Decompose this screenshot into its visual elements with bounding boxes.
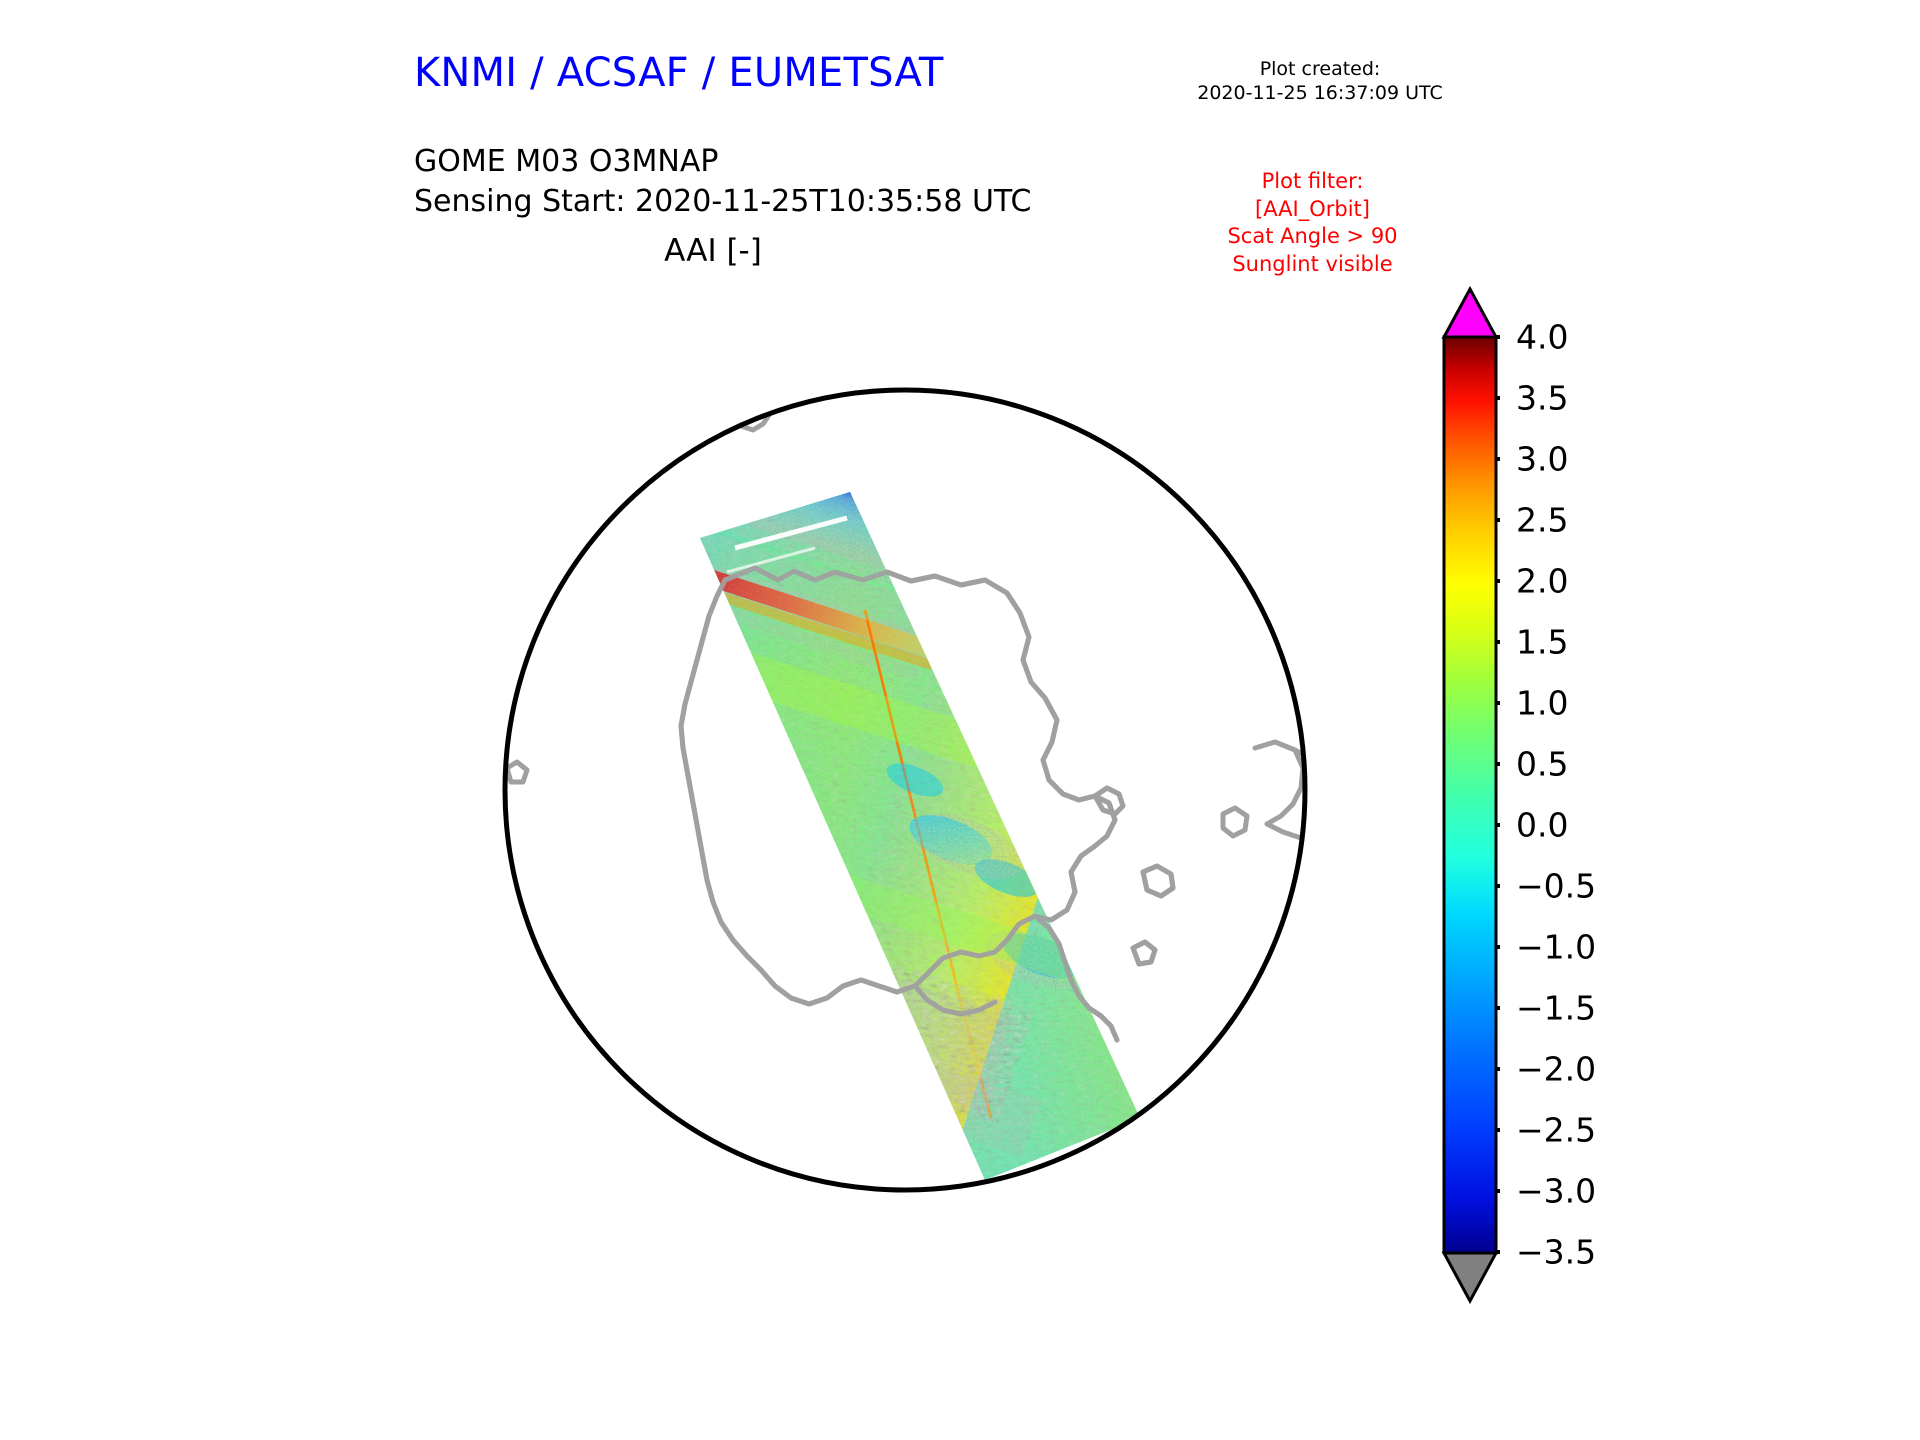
colorbar-label-4: 2.0 xyxy=(1516,562,1568,601)
product-info-block: GOME M03 O3MNAP Sensing Start: 2020-11-2… xyxy=(414,142,1031,222)
colorbar-label-13: −2.5 xyxy=(1516,1111,1596,1150)
colorbar-label-14: −3.0 xyxy=(1516,1172,1596,1211)
map-panel xyxy=(395,280,1415,1300)
instrument-line: GOME M03 O3MNAP xyxy=(414,142,1031,182)
colorbar-over-arrow xyxy=(1444,289,1496,337)
colorbar-under-arrow xyxy=(1444,1253,1496,1301)
colorbar-tick-labels: 4.0 3.5 3.0 2.5 2.0 1.5 1.0 0.5 0.0 −0.5… xyxy=(1516,285,1646,1305)
colorbar-gradient xyxy=(1444,337,1496,1253)
colorbar xyxy=(1440,285,1500,1305)
colorbar-label-6: 1.0 xyxy=(1516,684,1568,723)
colorbar-label-3: 2.5 xyxy=(1516,501,1568,540)
filter-line-0: Plot filter: xyxy=(1180,168,1445,196)
map-svg xyxy=(395,280,1415,1300)
colorbar-label-1: 3.5 xyxy=(1516,379,1568,418)
colorbar-label-11: −1.5 xyxy=(1516,989,1596,1028)
plot-created-label: Plot created: xyxy=(1160,58,1480,82)
colorbar-label-9: −0.5 xyxy=(1516,867,1596,906)
plot-created-block: Plot created: 2020-11-25 16:37:09 UTC xyxy=(1160,58,1480,106)
filter-line-3: Sunglint visible xyxy=(1180,251,1445,279)
colorbar-label-8: 0.0 xyxy=(1516,806,1568,845)
colorbar-label-0: 4.0 xyxy=(1516,318,1568,357)
filter-line-1: [AAI_Orbit] xyxy=(1180,196,1445,224)
colorbar-label-10: −1.0 xyxy=(1516,928,1596,967)
colorbar-label-7: 0.5 xyxy=(1516,745,1568,784)
figure-canvas: KNMI / ACSAF / EUMETSAT Plot created: 20… xyxy=(0,0,1920,1440)
colorbar-label-5: 1.5 xyxy=(1516,623,1568,662)
plot-title: AAI [-] xyxy=(414,233,1012,269)
colorbar-label-2: 3.0 xyxy=(1516,440,1568,479)
brand-title: KNMI / ACSAF / EUMETSAT xyxy=(414,50,944,96)
filter-line-2: Scat Angle > 90 xyxy=(1180,223,1445,251)
colorbar-svg xyxy=(1440,285,1500,1305)
colorbar-label-15: −3.5 xyxy=(1516,1233,1596,1272)
plot-created-value: 2020-11-25 16:37:09 UTC xyxy=(1160,82,1480,106)
sensing-start-line: Sensing Start: 2020-11-25T10:35:58 UTC xyxy=(414,182,1031,222)
colorbar-label-12: −2.0 xyxy=(1516,1050,1596,1089)
plot-filter-block: Plot filter: [AAI_Orbit] Scat Angle > 90… xyxy=(1180,168,1445,279)
